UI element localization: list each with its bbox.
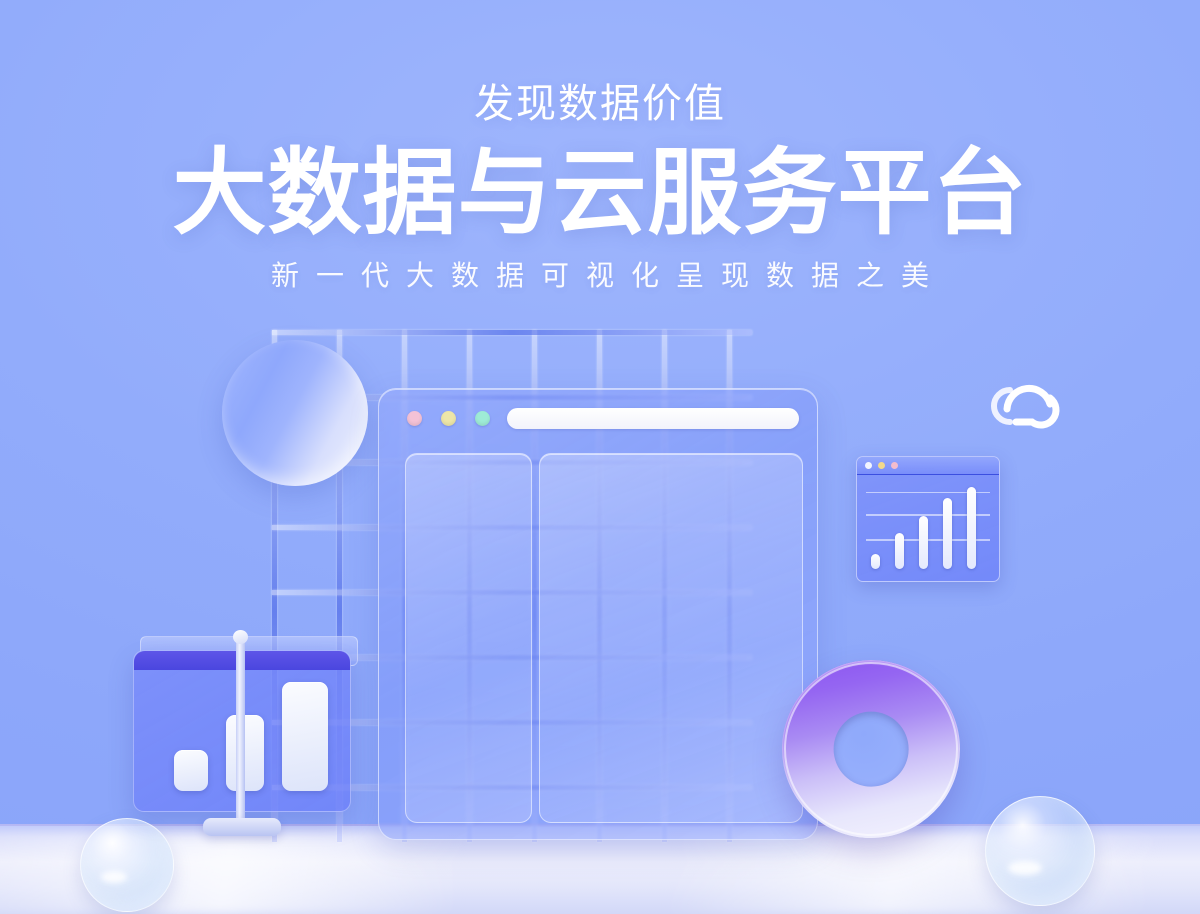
grid-line-horizontal [272,330,752,335]
traffic-light-close-icon[interactable] [407,411,422,426]
content-panel [539,453,803,823]
browser-mockup[interactable] [378,388,818,840]
browser-title-bar [379,389,817,447]
stand-base [203,818,281,836]
mini-chart-window[interactable] [856,456,1000,582]
traffic-light-maximize-icon[interactable] [475,411,490,426]
cloud-icon [976,360,1068,430]
url-input[interactable] [507,408,799,429]
chart-bar [226,715,264,791]
hero-text-block: 发现数据价值 大数据与云服务平台 新一代大数据可视化呈现数据之美 [0,80,1200,294]
eyebrow-text: 发现数据价值 [0,80,1200,128]
chart-bar [919,516,928,569]
sphere-highlight [1008,861,1042,875]
donut-highlight [784,662,958,836]
chart-bar [895,533,904,569]
chart-bar [871,554,880,569]
chart-bar [282,682,328,791]
sphere-highlight [101,871,127,883]
mini-traffic-light-maximize-icon[interactable] [891,462,898,469]
chart-bar [967,487,976,569]
mini-traffic-light-close-icon[interactable] [865,462,872,469]
traffic-light-minimize-icon[interactable] [441,411,456,426]
glass-sphere-right [985,796,1095,906]
mini-traffic-light-minimize-icon[interactable] [878,462,885,469]
chart-bar [943,498,952,569]
stand-pole-cap [233,630,248,644]
stand-pole [236,636,245,826]
sidebar-panel [405,453,532,823]
mini-window-title-bar [857,457,999,475]
page-title: 大数据与云服务平台 [0,142,1200,244]
banner-stage: 发现数据价值 大数据与云服务平台 新一代大数据可视化呈现数据之美 [0,0,1200,914]
chart-bar [174,750,208,791]
donut-chart-ring [782,660,960,838]
glass-disc [222,340,368,486]
glass-sphere-left [80,818,174,912]
subtitle-text: 新一代大数据可视化呈现数据之美 [0,254,1200,294]
